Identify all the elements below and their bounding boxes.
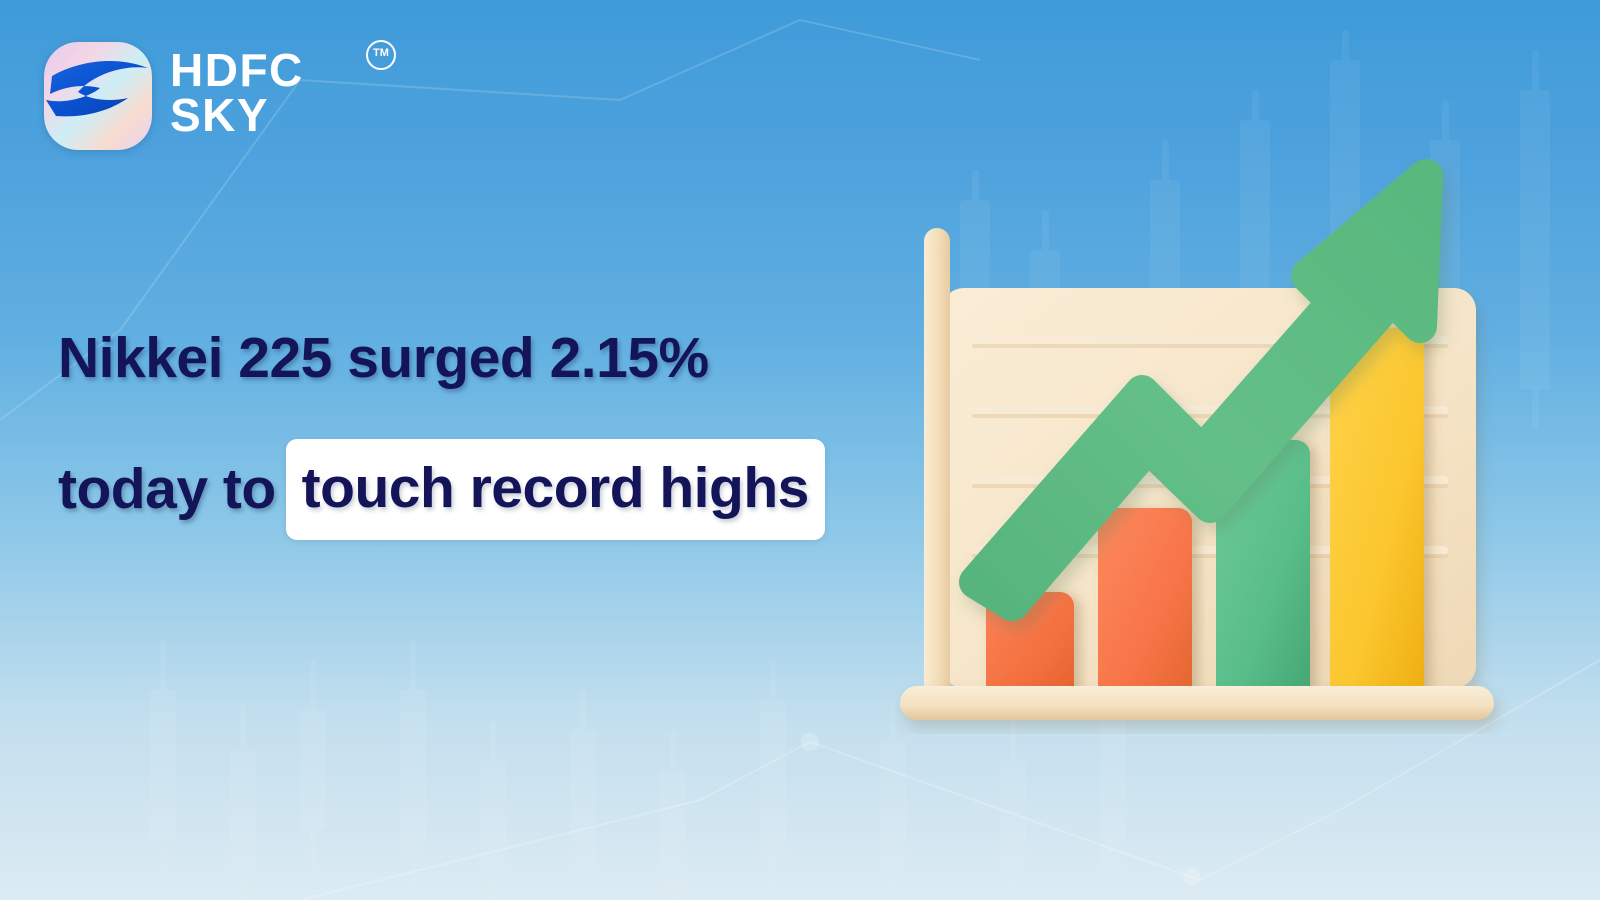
headline: Nikkei 225 surged 2.15% today to touch r… [58,330,878,540]
growth-chart-illustration [880,140,1520,740]
brand-logo[interactable]: HDFC SKY TM [44,42,304,150]
headline-line-1: Nikkei 225 surged 2.15% [58,330,878,387]
chart-base [900,686,1494,720]
headline-line-2: today to touch record highs [58,439,878,540]
brand-name-line-1: HDFC [170,48,304,93]
trademark-icon: TM [366,40,396,70]
brand-wordmark: HDFC SKY TM [170,42,304,138]
headline-highlight: touch record highs [286,439,825,540]
brand-name-line-2: SKY [170,93,304,138]
headline-line-2-plain: today to [58,461,278,518]
chart-y-axis [924,228,950,708]
social-card: HDFC SKY TM Nikkei 225 surged 2.15% toda… [0,0,1600,900]
hdfc-sky-swoosh-icon [44,42,152,150]
